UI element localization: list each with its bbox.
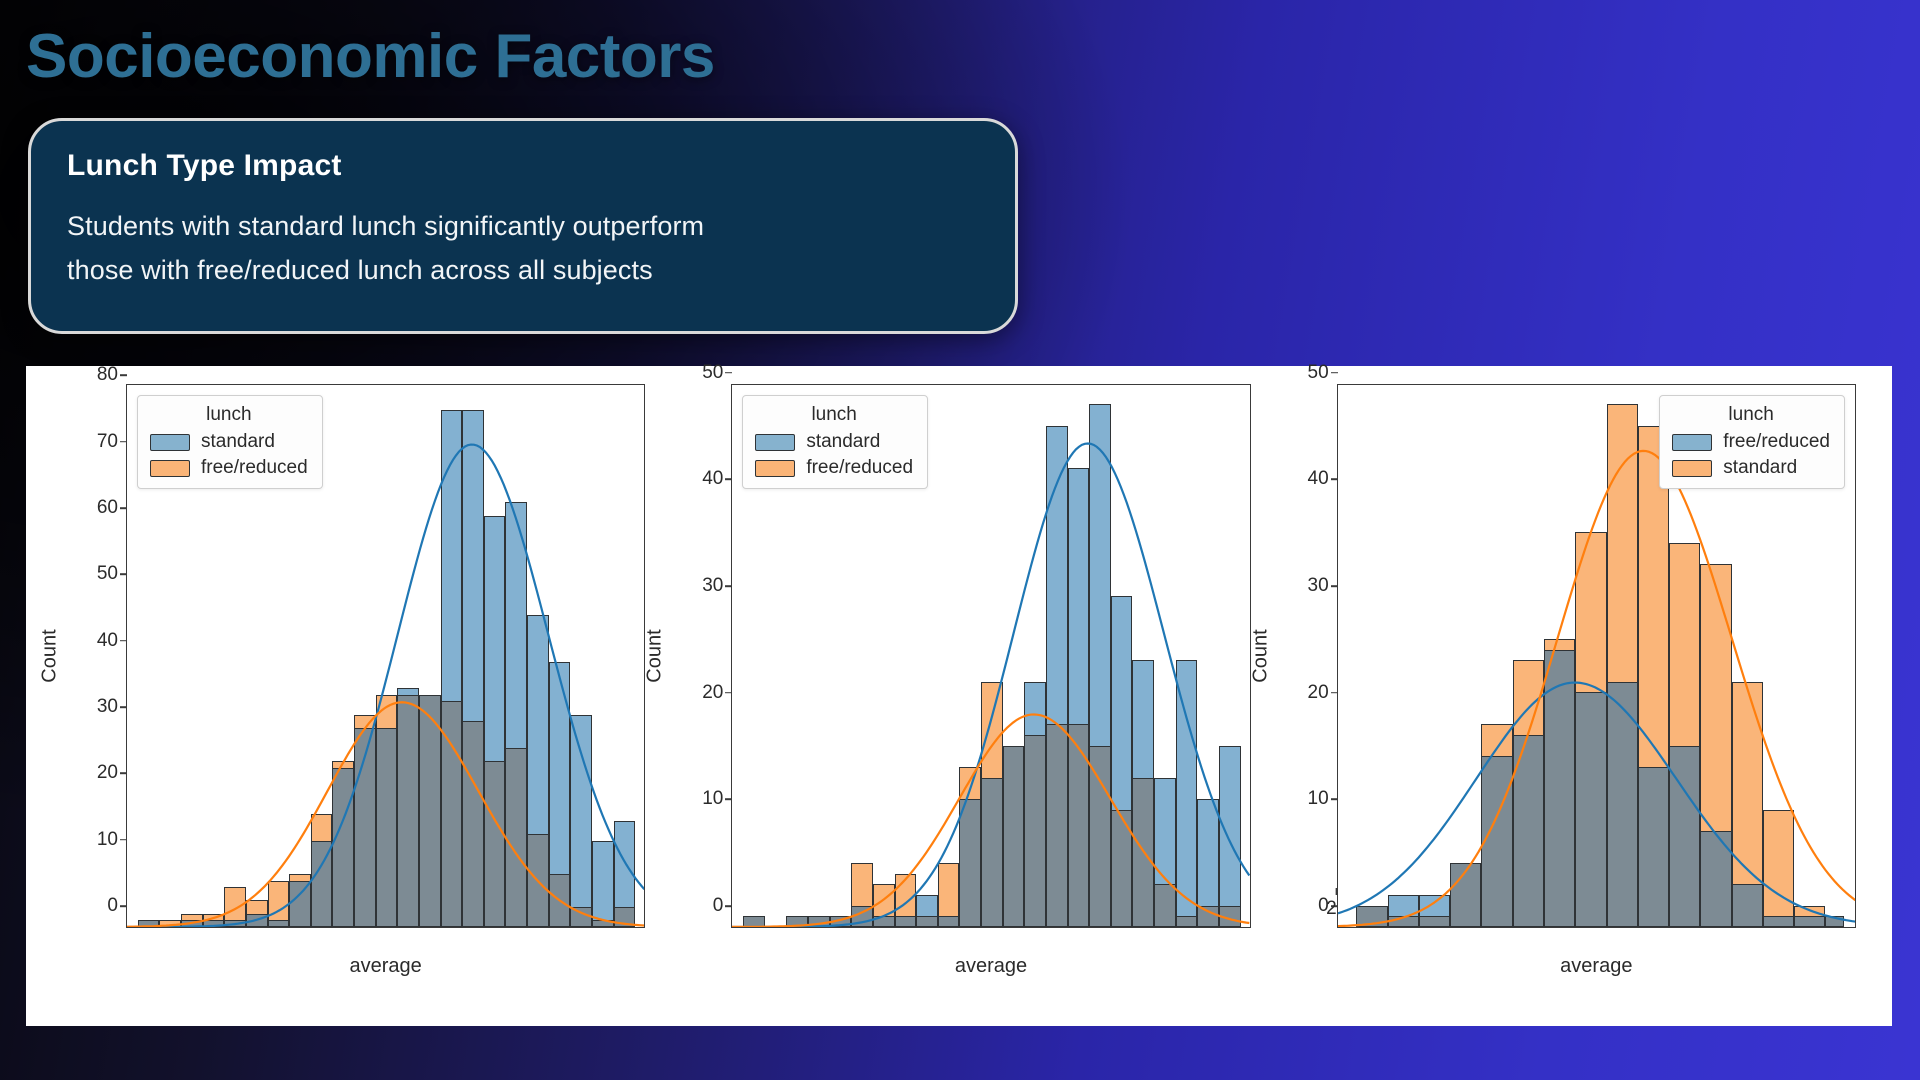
histogram-bar <box>159 920 181 927</box>
histogram-bar-overlap <box>830 916 852 927</box>
histogram-bar-overlap <box>1154 884 1176 927</box>
y-tick-label: 70 <box>97 431 118 453</box>
legend-swatch-icon <box>755 460 795 477</box>
histogram-bar-overlap <box>1068 724 1090 927</box>
histogram-bar-overlap <box>614 907 636 927</box>
chart-reading: 01020304050Count20406080100averagelunchs… <box>659 372 1264 1012</box>
legend-swatch-icon <box>150 460 190 477</box>
histogram-bar-overlap <box>376 728 398 927</box>
histogram-bar-overlap <box>1089 746 1111 927</box>
legend-item-label: standard <box>201 431 275 453</box>
histogram-bar <box>1763 810 1794 927</box>
histogram-bar-overlap <box>1607 682 1638 927</box>
plot-area: lunchstandardfree/reduced <box>126 384 645 928</box>
y-tick-label: 40 <box>702 468 723 490</box>
insight-card-line-1: Students with standard lunch significant… <box>67 205 979 249</box>
legend-item-label: standard <box>1723 457 1797 479</box>
histogram-bar-overlap <box>527 834 549 927</box>
histogram-bar-overlap <box>1669 746 1700 927</box>
chart-legend[interactable]: lunchstandardfree/reduced <box>137 395 323 489</box>
histogram-bar-overlap <box>916 916 938 927</box>
histogram-bar-overlap <box>808 916 830 927</box>
legend-item-label: free/reduced <box>201 457 308 479</box>
histogram-bar-overlap <box>1003 746 1025 927</box>
histogram-bar-overlap <box>1638 767 1669 927</box>
y-tick-label: 30 <box>1308 575 1329 597</box>
histogram-bar-overlap <box>224 920 246 927</box>
histogram-bar-overlap <box>549 874 571 927</box>
histogram-bar-overlap <box>203 920 225 927</box>
legend-swatch-icon <box>150 434 190 451</box>
histogram-bar-overlap <box>505 748 527 927</box>
histogram-bar-overlap <box>1046 724 1068 927</box>
histogram-bar <box>1176 660 1198 927</box>
y-tick-label: 0 <box>107 895 118 917</box>
histogram-bar-overlap <box>1481 756 1512 927</box>
histogram-bar-overlap <box>1575 692 1606 927</box>
chart-legend[interactable]: lunchstandardfree/reduced <box>742 395 928 489</box>
legend-swatch-icon <box>1672 434 1712 451</box>
histogram-bar <box>1219 746 1241 927</box>
y-tick-label: 40 <box>1308 468 1329 490</box>
histogram-bar-overlap <box>332 768 354 927</box>
histogram-bar-overlap <box>959 799 981 927</box>
histogram-bar-overlap <box>441 701 463 927</box>
histogram-bar-overlap <box>1763 916 1794 927</box>
legend-swatch-icon <box>1672 460 1712 477</box>
legend-title: lunch <box>1672 404 1830 426</box>
y-tick-label: 50 <box>702 362 723 384</box>
histogram-bar-overlap <box>397 695 419 927</box>
legend-item[interactable]: standard <box>755 431 913 453</box>
histogram-bar-overlap <box>1024 735 1046 927</box>
histogram-bar-overlap <box>592 920 614 927</box>
histogram-bar-overlap <box>570 907 592 927</box>
y-tick-label: 20 <box>97 762 118 784</box>
y-tick-label: 10 <box>97 829 118 851</box>
legend-title: lunch <box>755 404 913 426</box>
legend-swatch-icon <box>755 434 795 451</box>
histogram-bar-overlap <box>462 721 484 927</box>
legend-item-label: standard <box>806 431 880 453</box>
y-tick-label: 10 <box>702 788 723 810</box>
chart-math: 01020304050607080Count20406080100average… <box>54 372 659 1012</box>
x-axis-label: average <box>731 955 1250 978</box>
histogram-bar-overlap <box>181 920 203 927</box>
plot-area: lunchfree/reducedstandard <box>1337 384 1856 928</box>
histogram-bar <box>592 841 614 927</box>
histogram-bar-overlap <box>268 920 290 927</box>
y-tick-label: 50 <box>1308 362 1329 384</box>
histogram-bar-overlap <box>938 916 960 927</box>
y-axis-label: Count <box>1249 629 1272 682</box>
histogram-bar-overlap <box>873 916 895 927</box>
histogram-bar-overlap <box>895 916 917 927</box>
histogram-bar-overlap <box>246 914 268 927</box>
y-tick-label: 80 <box>97 364 118 386</box>
histogram-bar <box>570 715 592 927</box>
y-tick-label: 40 <box>97 630 118 652</box>
y-tick-label: 50 <box>97 563 118 585</box>
histogram-bar-overlap <box>1732 884 1763 927</box>
legend-item[interactable]: standard <box>150 431 308 453</box>
y-axis: 01020304050607080Count <box>54 384 126 928</box>
histogram-bar-overlap <box>1197 906 1219 927</box>
x-axis-label: average <box>126 955 645 978</box>
y-tick-label: 20 <box>702 682 723 704</box>
y-tick-label: 20 <box>1308 682 1329 704</box>
histogram-bar-overlap <box>1513 735 1544 927</box>
insight-card-line-2: those with free/reduced lunch across all… <box>67 249 979 293</box>
y-axis-label: Count <box>644 629 667 682</box>
insight-card-title: Lunch Type Impact <box>67 149 979 183</box>
x-axis-label: average <box>1337 955 1856 978</box>
histogram-bar-overlap <box>419 695 441 927</box>
charts-panel: 01020304050607080Count20406080100average… <box>26 366 1892 1026</box>
histogram-bar-overlap <box>1700 831 1731 927</box>
y-axis-label: Count <box>39 629 62 682</box>
plot-area: lunchstandardfree/reduced <box>731 384 1250 928</box>
histogram-bar-overlap <box>1111 810 1133 927</box>
histogram-bar-overlap <box>354 728 376 927</box>
histogram-bar-overlap <box>743 916 765 927</box>
legend-item[interactable]: free/reduced <box>1672 431 1830 453</box>
histogram-bar-overlap <box>1794 916 1825 927</box>
legend-item[interactable]: standard <box>1672 457 1830 479</box>
y-axis: 01020304050Count <box>659 384 731 928</box>
chart-writing: 01020304050Count2030405060708090100avera… <box>1265 372 1870 1012</box>
legend-item-label: free/reduced <box>1723 431 1830 453</box>
legend-item[interactable]: free/reduced <box>755 457 913 479</box>
histogram-bar-overlap <box>289 881 311 927</box>
histogram-bar-overlap <box>311 841 333 927</box>
histogram-bar-overlap <box>786 916 808 927</box>
histogram-bar-overlap <box>1825 916 1844 927</box>
histogram-bar-overlap <box>1356 906 1387 927</box>
histogram-bar-overlap <box>981 778 1003 927</box>
page-title: Socioeconomic Factors <box>26 24 715 89</box>
histogram-bar-overlap <box>1132 778 1154 927</box>
y-tick-label: 60 <box>97 497 118 519</box>
legend-item[interactable]: free/reduced <box>150 457 308 479</box>
histogram-bar-overlap <box>138 920 160 927</box>
y-tick-label: 0 <box>713 895 724 917</box>
histogram-bar-overlap <box>1450 863 1481 927</box>
y-tick-label: 30 <box>702 575 723 597</box>
histogram-bar-overlap <box>1544 650 1575 927</box>
histogram-bar-overlap <box>1419 916 1450 927</box>
histogram-bar-overlap <box>1219 906 1241 927</box>
insight-card: Lunch Type Impact Students with standard… <box>28 118 1018 334</box>
histogram-bar-overlap <box>1388 916 1419 927</box>
legend-item-label: free/reduced <box>806 457 913 479</box>
chart-legend[interactable]: lunchfree/reducedstandard <box>1659 395 1845 489</box>
y-axis: 01020304050Count <box>1265 384 1337 928</box>
y-tick-label: 30 <box>97 696 118 718</box>
histogram-bar-overlap <box>1176 916 1198 927</box>
histogram-bar-overlap <box>484 761 506 927</box>
histogram-bar-overlap <box>851 906 873 927</box>
legend-title: lunch <box>150 404 308 426</box>
y-tick-label: 10 <box>1308 788 1329 810</box>
